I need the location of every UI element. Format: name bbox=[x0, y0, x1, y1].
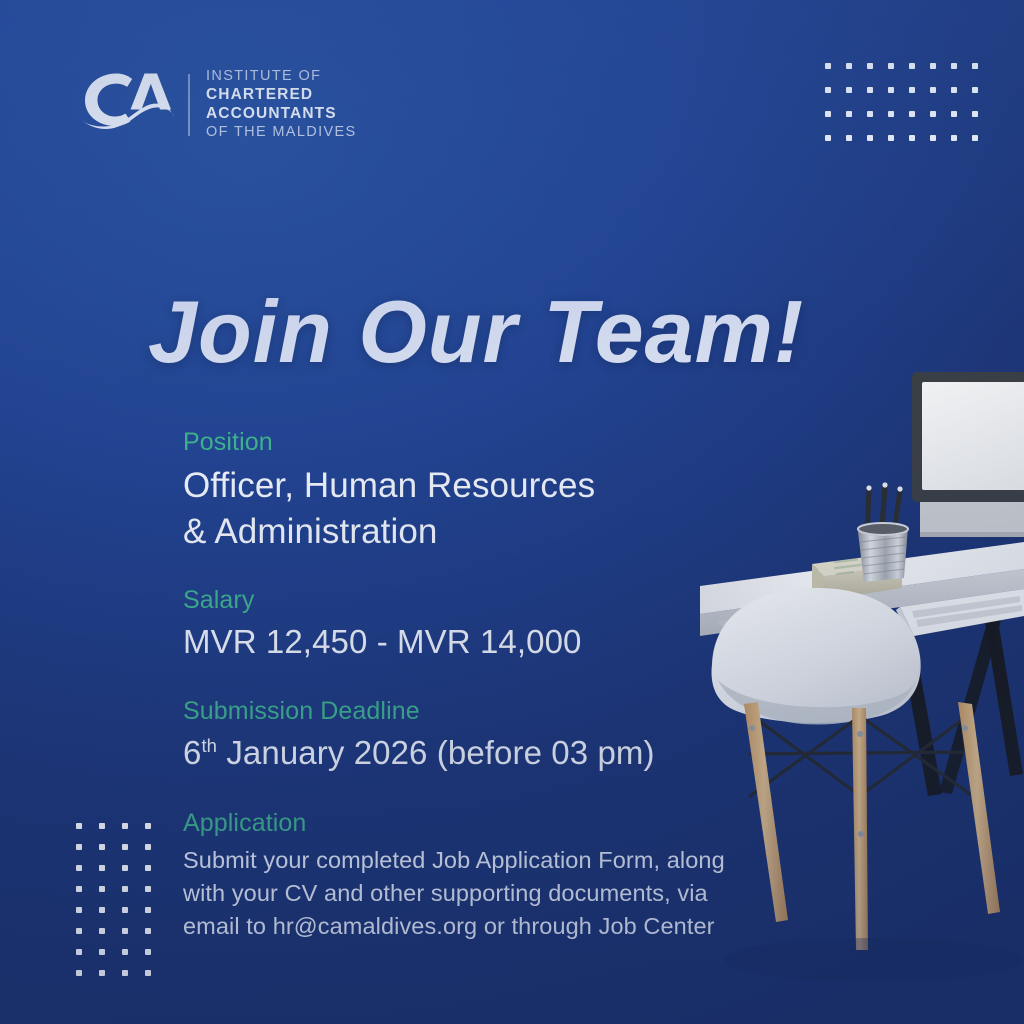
decorative-dot bbox=[867, 135, 873, 141]
brand-line-of-the-maldives: OF THE MALDIVES bbox=[206, 124, 357, 142]
decorative-dot bbox=[76, 970, 82, 976]
decorative-dot bbox=[909, 63, 915, 69]
salary-value: MVR 12,450 - MVR 14,000 bbox=[183, 621, 582, 664]
decorative-dot bbox=[145, 886, 151, 892]
decorative-dot bbox=[122, 865, 128, 871]
deadline-value: 6th January 2026 (before 03 pm) bbox=[183, 732, 655, 775]
decorative-dot bbox=[99, 823, 105, 829]
decorative-dot bbox=[825, 135, 831, 141]
decorative-dot bbox=[145, 907, 151, 913]
decorative-dot bbox=[951, 135, 957, 141]
decorative-dot bbox=[951, 111, 957, 117]
position-value-line-1: Officer, Human Resources bbox=[183, 463, 595, 510]
decorative-dot bbox=[825, 111, 831, 117]
decorative-dot bbox=[951, 63, 957, 69]
decorative-dot bbox=[930, 111, 936, 117]
pencil-cup bbox=[858, 482, 908, 582]
decorative-dot bbox=[888, 111, 894, 117]
decorative-dot bbox=[867, 63, 873, 69]
position-label: Position bbox=[183, 428, 595, 457]
decorative-dot bbox=[145, 949, 151, 955]
decorative-dot bbox=[825, 87, 831, 93]
decorative-dot bbox=[122, 970, 128, 976]
decorative-dot bbox=[888, 135, 894, 141]
deadline-block: Submission Deadline 6th January 2026 (be… bbox=[183, 697, 655, 775]
decorative-dot bbox=[99, 970, 105, 976]
application-line-2: with your CV and other supporting docume… bbox=[183, 877, 725, 910]
position-block: Position Officer, Human Resources & Admi… bbox=[183, 428, 595, 556]
decorative-dot bbox=[867, 111, 873, 117]
application-label: Application bbox=[183, 809, 725, 838]
decorative-dot bbox=[99, 949, 105, 955]
decorative-dot bbox=[145, 823, 151, 829]
decorative-dot bbox=[846, 87, 852, 93]
decorative-dot bbox=[122, 907, 128, 913]
decorative-dot bbox=[846, 135, 852, 141]
application-block: Application Submit your completed Job Ap… bbox=[183, 809, 725, 944]
decorative-dot bbox=[972, 111, 978, 117]
brand-line-institute-of: INSTITUTE OF bbox=[206, 68, 357, 86]
decorative-dot bbox=[99, 886, 105, 892]
salary-block: Salary MVR 12,450 - MVR 14,000 bbox=[183, 586, 582, 664]
brand-line-chartered: CHARTERED bbox=[206, 86, 357, 105]
decorative-dot bbox=[909, 111, 915, 117]
dot-pattern-top-right bbox=[825, 63, 993, 159]
decorative-dot bbox=[888, 87, 894, 93]
decorative-dot bbox=[99, 907, 105, 913]
brand-line-accountants: ACCOUNTANTS bbox=[206, 105, 357, 124]
decorative-dot bbox=[145, 865, 151, 871]
decorative-dot bbox=[145, 970, 151, 976]
decorative-dot bbox=[76, 907, 82, 913]
decorative-dot bbox=[972, 135, 978, 141]
decorative-dot bbox=[888, 63, 894, 69]
decorative-dot bbox=[951, 87, 957, 93]
decorative-dot bbox=[76, 949, 82, 955]
decorative-dot bbox=[76, 886, 82, 892]
application-line-3: email to hr@camaldives.org or through Jo… bbox=[183, 910, 725, 943]
ca-monogram-icon bbox=[78, 68, 174, 142]
salary-label: Salary bbox=[183, 586, 582, 615]
logo-divider bbox=[188, 74, 190, 136]
decorative-dot bbox=[972, 87, 978, 93]
decorative-dot bbox=[867, 87, 873, 93]
deadline-day: 6 bbox=[183, 734, 201, 771]
decorative-dot bbox=[846, 63, 852, 69]
position-value-line-2: & Administration bbox=[183, 509, 595, 556]
decorative-dot bbox=[825, 63, 831, 69]
decorative-dot bbox=[122, 928, 128, 934]
decorative-dot bbox=[909, 135, 915, 141]
brand-wordmark: INSTITUTE OF CHARTERED ACCOUNTANTS OF TH… bbox=[206, 68, 357, 141]
poster-canvas: INSTITUTE OF CHARTERED ACCOUNTANTS OF TH… bbox=[0, 0, 1024, 1024]
decorative-dot bbox=[76, 865, 82, 871]
imac-monitor bbox=[912, 372, 1024, 537]
decorative-dot bbox=[99, 928, 105, 934]
decorative-dot bbox=[972, 63, 978, 69]
dot-pattern-bottom-left bbox=[76, 823, 168, 991]
deadline-label: Submission Deadline bbox=[183, 697, 655, 726]
brand-logo: INSTITUTE OF CHARTERED ACCOUNTANTS OF TH… bbox=[78, 68, 357, 142]
decorative-dot bbox=[930, 63, 936, 69]
decorative-dot bbox=[122, 823, 128, 829]
decorative-dot bbox=[76, 844, 82, 850]
decorative-dot bbox=[846, 111, 852, 117]
decorative-dot bbox=[909, 87, 915, 93]
decorative-dot bbox=[76, 928, 82, 934]
decorative-dot bbox=[145, 928, 151, 934]
decorative-dot bbox=[122, 949, 128, 955]
desk-scene-photo bbox=[684, 364, 1024, 1024]
decorative-dot bbox=[76, 823, 82, 829]
decorative-dot bbox=[930, 135, 936, 141]
deadline-rest: January 2026 (before 03 pm) bbox=[217, 734, 655, 771]
decorative-dot bbox=[122, 886, 128, 892]
decorative-dot bbox=[99, 865, 105, 871]
decorative-dot bbox=[145, 844, 151, 850]
application-line-1: Submit your completed Job Application Fo… bbox=[183, 844, 725, 877]
deadline-ordinal: th bbox=[201, 735, 217, 756]
decorative-dot bbox=[99, 844, 105, 850]
decorative-dot bbox=[122, 844, 128, 850]
decorative-dot bbox=[930, 87, 936, 93]
